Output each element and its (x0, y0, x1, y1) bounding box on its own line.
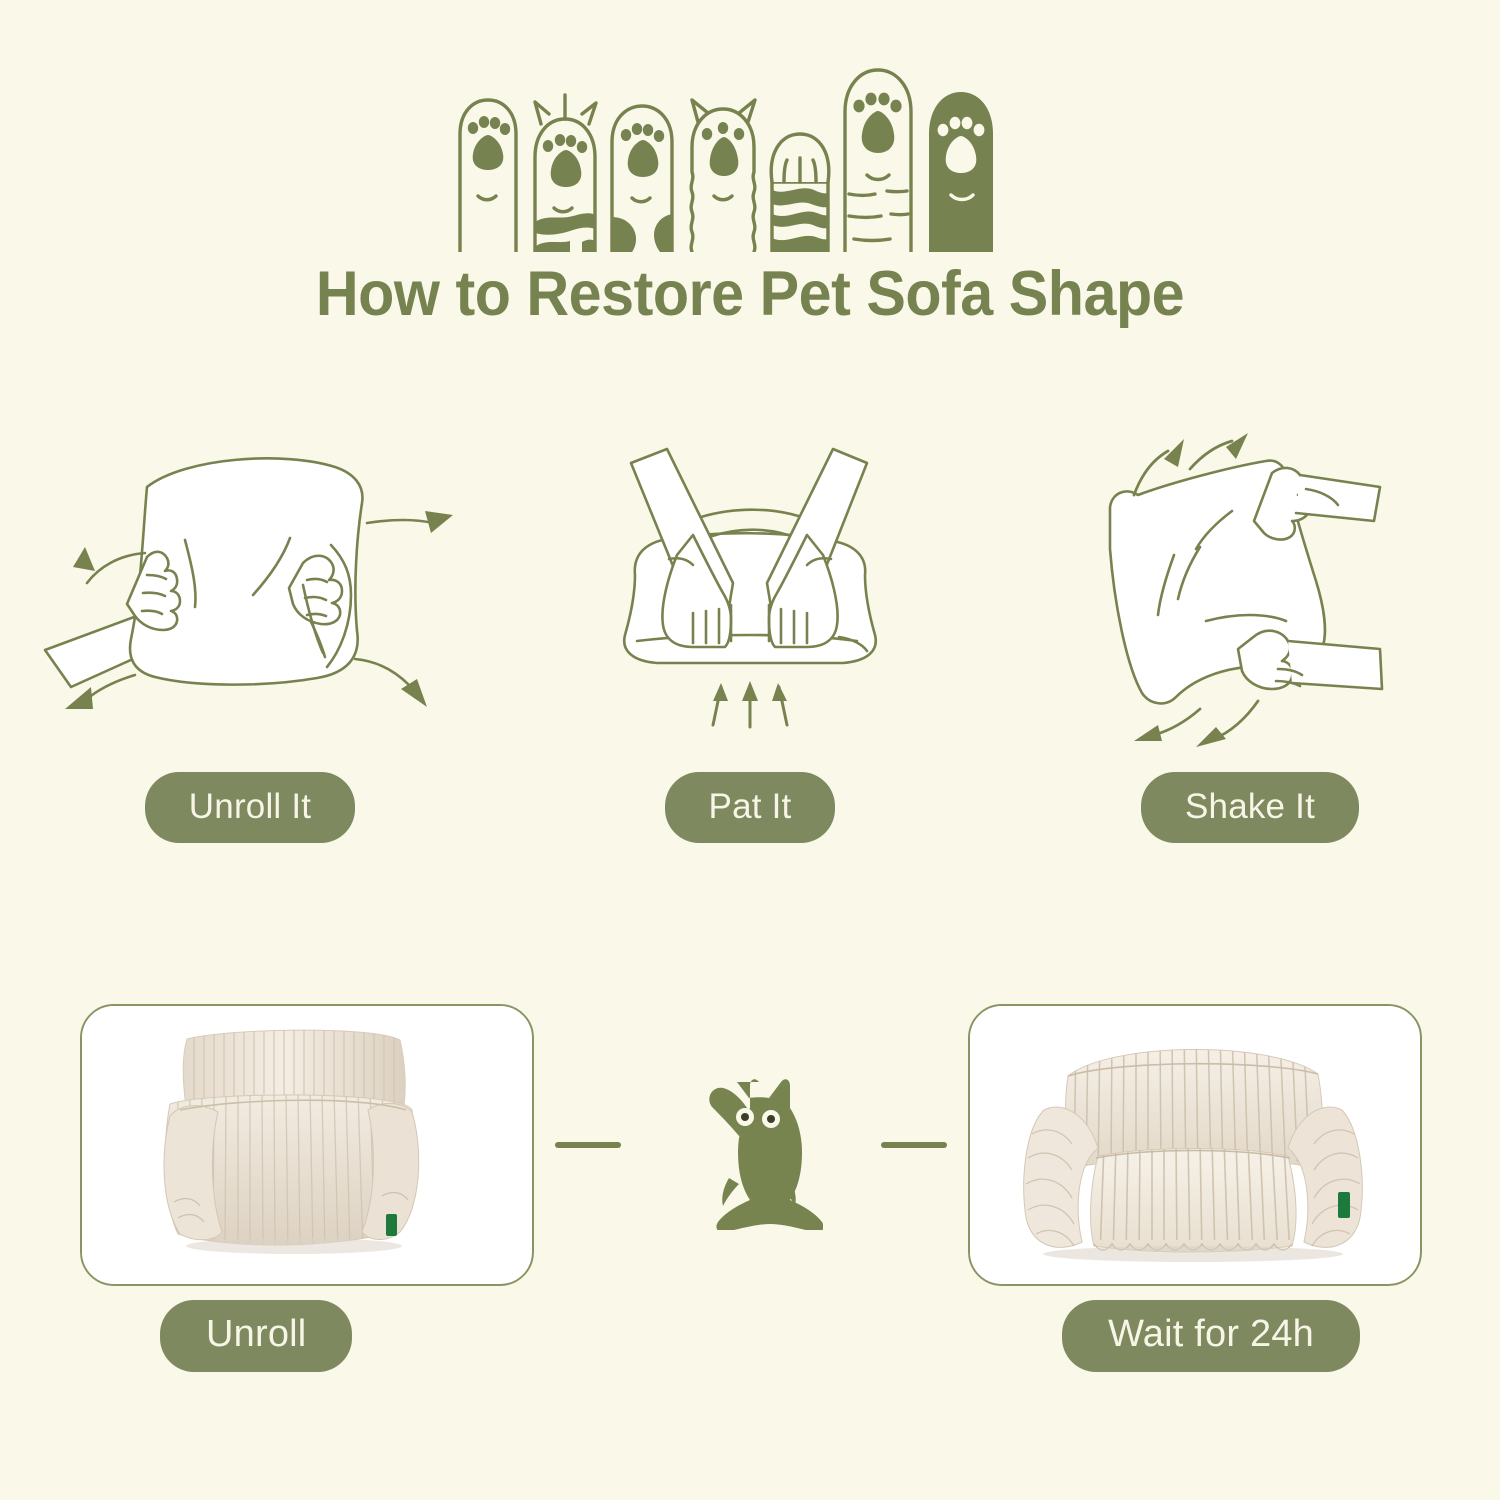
steps-row: Unroll It (0, 430, 1500, 870)
paw-7-solid-filled (929, 92, 993, 252)
separator-dash-right (881, 1142, 947, 1148)
pat-arrows (713, 681, 787, 727)
paw-2-clawed-striped (535, 95, 596, 252)
paw-5-zebra-striped (771, 134, 829, 252)
infographic-page: How to Restore Pet Sofa Shape (0, 0, 1500, 1500)
brand-tag (1338, 1192, 1350, 1218)
step-shake-it: Shake It (1000, 430, 1500, 870)
before-label: Unroll (160, 1300, 352, 1372)
after-label: Wait for 24h (1062, 1300, 1360, 1372)
before-label-wrap: Unroll (160, 1300, 352, 1372)
paw-6-tall-dashed (845, 70, 911, 252)
pat-illustration (575, 430, 925, 760)
separator-dash-left (555, 1142, 621, 1148)
step-pat-it: Pat It (500, 430, 1000, 870)
after-label-wrap: Wait for 24h (1062, 1300, 1360, 1372)
comparison-labels: Unroll Wait for 24h (0, 1300, 1500, 1380)
paw-4-furry-eared (691, 100, 755, 252)
step-label-unroll-it: Unroll It (145, 772, 355, 843)
comparison-row (0, 995, 1500, 1295)
step-label-pat-it: Pat It (665, 772, 836, 843)
shake-illustration (1080, 430, 1420, 760)
sitting-cat-icon (679, 1060, 823, 1230)
compressed-pet-sofa-photo (82, 1006, 528, 1280)
paw-3-spotted (612, 106, 672, 252)
comparison-separator (534, 1006, 968, 1284)
before-photo-card (80, 1004, 534, 1286)
page-title: How to Restore Pet Sofa Shape (45, 258, 1455, 330)
step-label-shake-it: Shake It (1141, 772, 1359, 843)
step-unroll-it: Unroll It (0, 430, 500, 870)
unroll-illustration (35, 430, 465, 760)
after-photo-card (968, 1004, 1422, 1286)
restored-pet-sofa-photo (970, 1006, 1416, 1280)
cat-paws-illustration (440, 62, 1060, 252)
cat-paws-row (0, 62, 1500, 252)
paw-1-plain-outline (460, 100, 516, 252)
brand-tag (386, 1214, 397, 1236)
